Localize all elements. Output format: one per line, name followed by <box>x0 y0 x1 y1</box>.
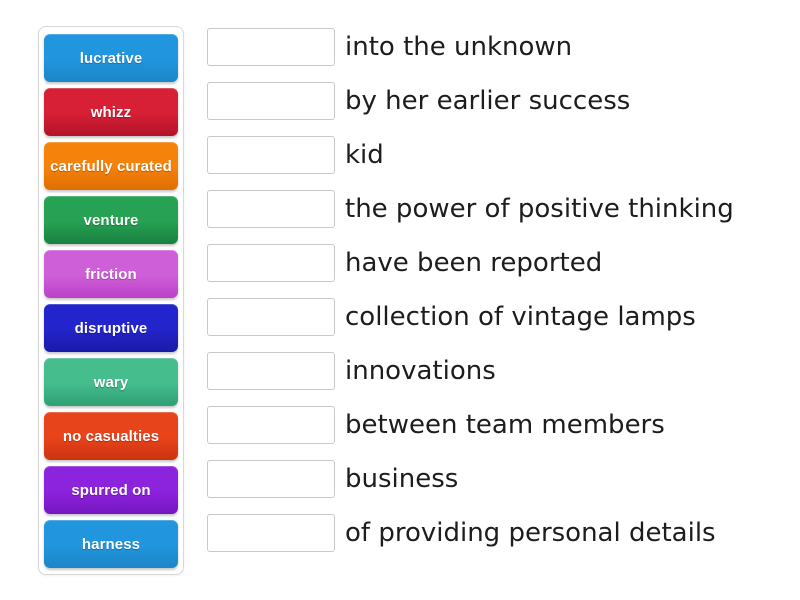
answer-row: have been reported <box>207 244 792 282</box>
word-tile-label: disruptive <box>44 320 178 337</box>
answer-row: collection of vintage lamps <box>207 298 792 336</box>
prompt-text: collection of vintage lamps <box>345 302 696 332</box>
answer-dropzone[interactable] <box>207 136 335 174</box>
word-tile[interactable]: wary <box>44 358 178 406</box>
answer-dropzone[interactable] <box>207 406 335 444</box>
prompt-text: the power of positive thinking <box>345 194 734 224</box>
word-tile-label: no casualties <box>44 428 178 445</box>
word-tile-label: lucrative <box>44 50 178 67</box>
prompt-text: innovations <box>345 356 496 386</box>
answer-row: by her earlier success <box>207 82 792 120</box>
answer-dropzone[interactable] <box>207 298 335 336</box>
word-tile[interactable]: friction <box>44 250 178 298</box>
prompt-text: kid <box>345 140 384 170</box>
answer-row: the power of positive thinking <box>207 190 792 228</box>
prompt-text: have been reported <box>345 248 602 278</box>
word-tile[interactable]: harness <box>44 520 178 568</box>
answer-dropzone[interactable] <box>207 514 335 552</box>
answer-rows: into the unknown by her earlier success … <box>207 28 792 552</box>
word-tile-label: friction <box>44 266 178 283</box>
answer-dropzone[interactable] <box>207 82 335 120</box>
answer-dropzone[interactable] <box>207 352 335 390</box>
word-tile[interactable]: no casualties <box>44 412 178 460</box>
answer-row: business <box>207 460 792 498</box>
word-tile-label: whizz <box>44 104 178 121</box>
answer-dropzone[interactable] <box>207 460 335 498</box>
answer-row: innovations <box>207 352 792 390</box>
prompt-text: by her earlier success <box>345 86 630 116</box>
answer-dropzone[interactable] <box>207 190 335 228</box>
word-tile-label: carefully curated <box>44 158 178 175</box>
answer-row: of providing personal details <box>207 514 792 552</box>
word-tile-label: venture <box>44 212 178 229</box>
prompt-text: into the unknown <box>345 32 572 62</box>
word-tile-label: spurred on <box>44 482 178 499</box>
answer-row: kid <box>207 136 792 174</box>
word-tile[interactable]: disruptive <box>44 304 178 352</box>
word-tile[interactable]: whizz <box>44 88 178 136</box>
prompt-text: of providing personal details <box>345 518 716 548</box>
word-tile-label: harness <box>44 536 178 553</box>
match-up-activity: lucrative whizz carefully curated ventur… <box>0 0 800 600</box>
word-tile[interactable]: venture <box>44 196 178 244</box>
word-tile[interactable]: lucrative <box>44 34 178 82</box>
prompt-text: business <box>345 464 458 494</box>
answer-dropzone[interactable] <box>207 28 335 66</box>
word-tile-label: wary <box>44 374 178 391</box>
prompt-text: between team members <box>345 410 665 440</box>
answer-row: between team members <box>207 406 792 444</box>
word-tile[interactable]: carefully curated <box>44 142 178 190</box>
answer-dropzone[interactable] <box>207 244 335 282</box>
word-tile-tray: lucrative whizz carefully curated ventur… <box>38 26 184 575</box>
word-tile[interactable]: spurred on <box>44 466 178 514</box>
answer-row: into the unknown <box>207 28 792 66</box>
